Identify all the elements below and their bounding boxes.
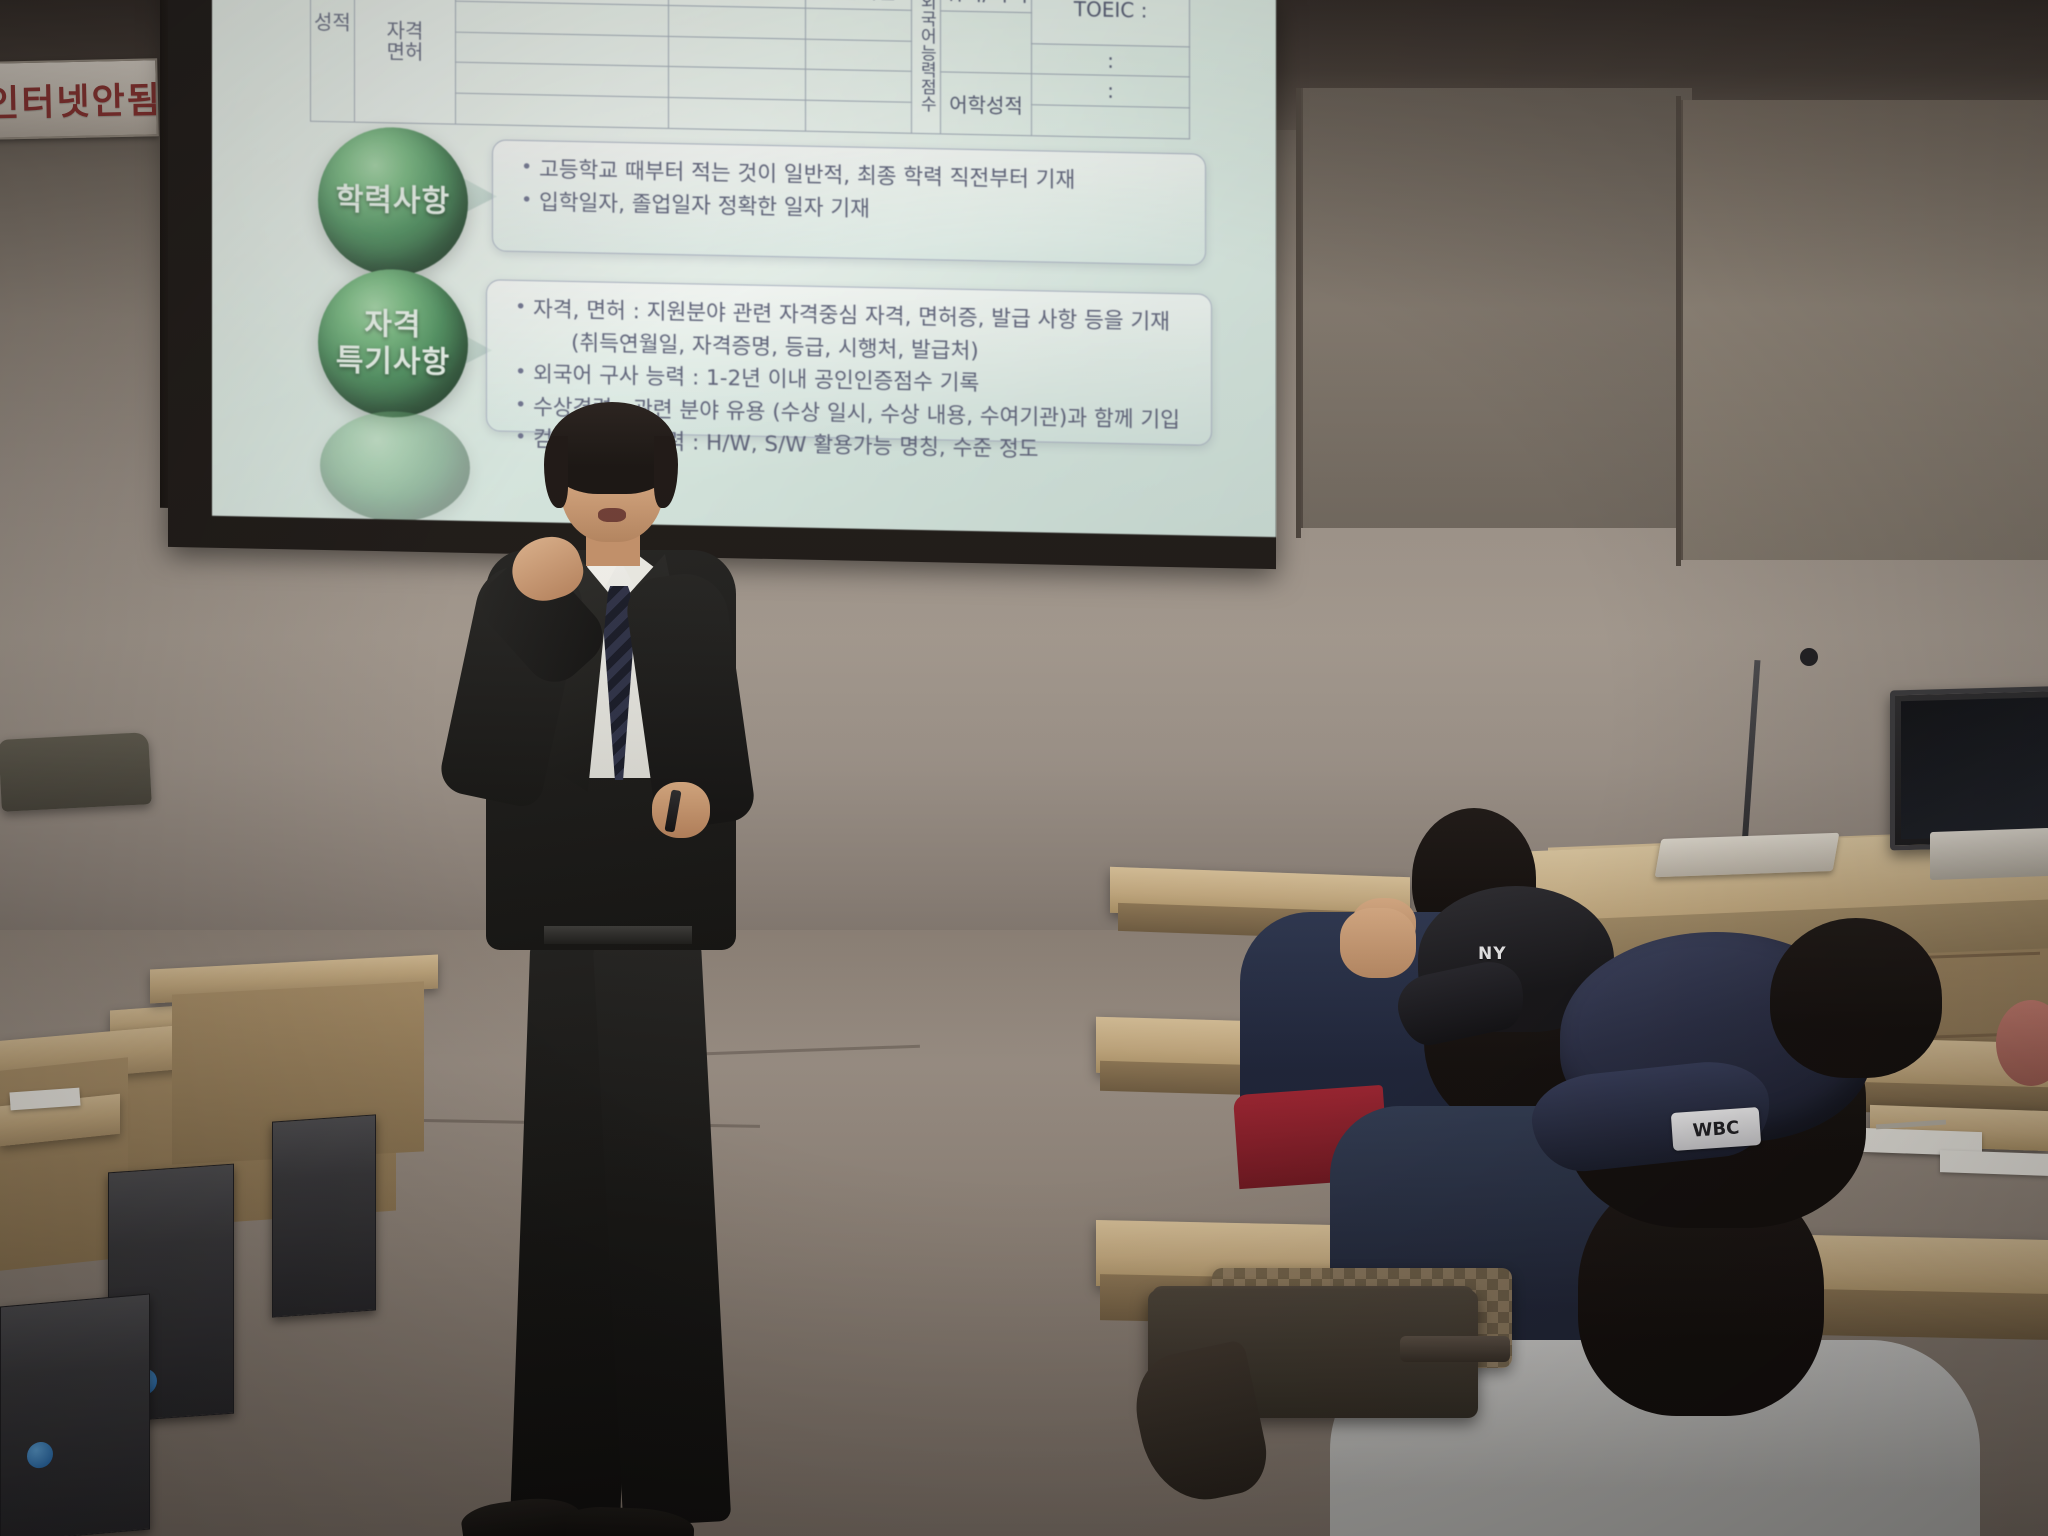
wall-seam [1676, 96, 1681, 566]
wall-sign-label: 인터넷안됨 [0, 71, 162, 127]
table-cell-empty [1032, 105, 1190, 139]
table-cell-language-result-label: 어학성적 [940, 72, 1031, 135]
student-6-head [1770, 918, 1942, 1078]
table-cell-empty [668, 67, 805, 101]
table-cell-score-1: : [1032, 43, 1190, 77]
table-cell-empty [805, 39, 911, 72]
bag-on-desk [0, 732, 152, 812]
table-cell-empty [805, 100, 911, 133]
microphone-head-icon [1800, 648, 1818, 666]
student-1-hand-raised [1340, 908, 1416, 978]
section-panel-education: 고등학교 때부터 적는 것이 일반적, 최종 학력 직전부터 기재 입학일자, … [492, 139, 1206, 265]
table-cell-label-left: 성적 [311, 0, 355, 122]
section-orb-qualifications-label: 자격 특기사항 [336, 305, 450, 382]
desktop-pc-tower[interactable] [272, 1114, 376, 1317]
orb-label-line-1: 자격 [364, 306, 421, 342]
table-vertical-header-language-score: 외국어능력점수 [911, 0, 940, 134]
table-cell-empty [456, 32, 669, 67]
presenter-hair-side-left [544, 436, 568, 508]
orb-label-line-2: 특기사항 [336, 343, 450, 380]
printer[interactable] [1930, 828, 2048, 880]
table-cell-empty [456, 1, 669, 36]
monitor-screen [1901, 697, 2048, 839]
keyboard[interactable] [1655, 833, 1840, 877]
table-cell-empty [668, 36, 805, 70]
table-cell-empty [805, 70, 911, 103]
desktop-pc-tower[interactable] [0, 1293, 150, 1536]
table-cell-empty [940, 11, 1031, 74]
podium-monitor[interactable] [1890, 686, 2048, 851]
student-2-cap-logo: NY [1478, 944, 1507, 964]
presenter-belt [544, 926, 692, 944]
table-cell-empty [805, 8, 911, 41]
table-cell-empty [456, 93, 669, 128]
presenter-mouth [598, 508, 626, 522]
paper-sheet [1940, 1150, 2048, 1176]
presenter [440, 390, 760, 1536]
section-orb-education-label: 학력사항 [336, 181, 450, 221]
satchel-handle [1400, 1336, 1510, 1362]
student-3-cap-patch: WBC [1671, 1107, 1761, 1151]
table-cell-empty [668, 98, 805, 132]
table-cell-score-2: : [1032, 74, 1190, 108]
table-cell-empty [668, 5, 805, 39]
pc-power-badge-icon [27, 1441, 53, 1469]
table-cell-toeic: TOEIC : [1032, 0, 1190, 47]
resume-form-table: 성적 년 월 대학원 전공 졸업(예정, 수료) 자격면허 자격명 취득일 발급… [310, 0, 1190, 139]
wall-seam [1296, 88, 1301, 538]
wall-sign-internet-notice: 인터넷안됨 [0, 58, 159, 140]
table-cell-empty [456, 63, 669, 98]
presenter-hand-right [652, 782, 710, 838]
wall-panel-far-right [1680, 100, 2048, 560]
presenter-hair-side-right [654, 436, 678, 508]
lecture-hall-scene: 인터넷안됨 성적 년 월 대학원 전공 졸업(예정, 수료) 자격면허 자격명 [0, 0, 2048, 1536]
section-orb-education: 학력사항 [318, 126, 468, 277]
wall-panel-center-right [1300, 88, 1692, 528]
table-cell-qualification-label: 자격면허 [354, 0, 455, 124]
